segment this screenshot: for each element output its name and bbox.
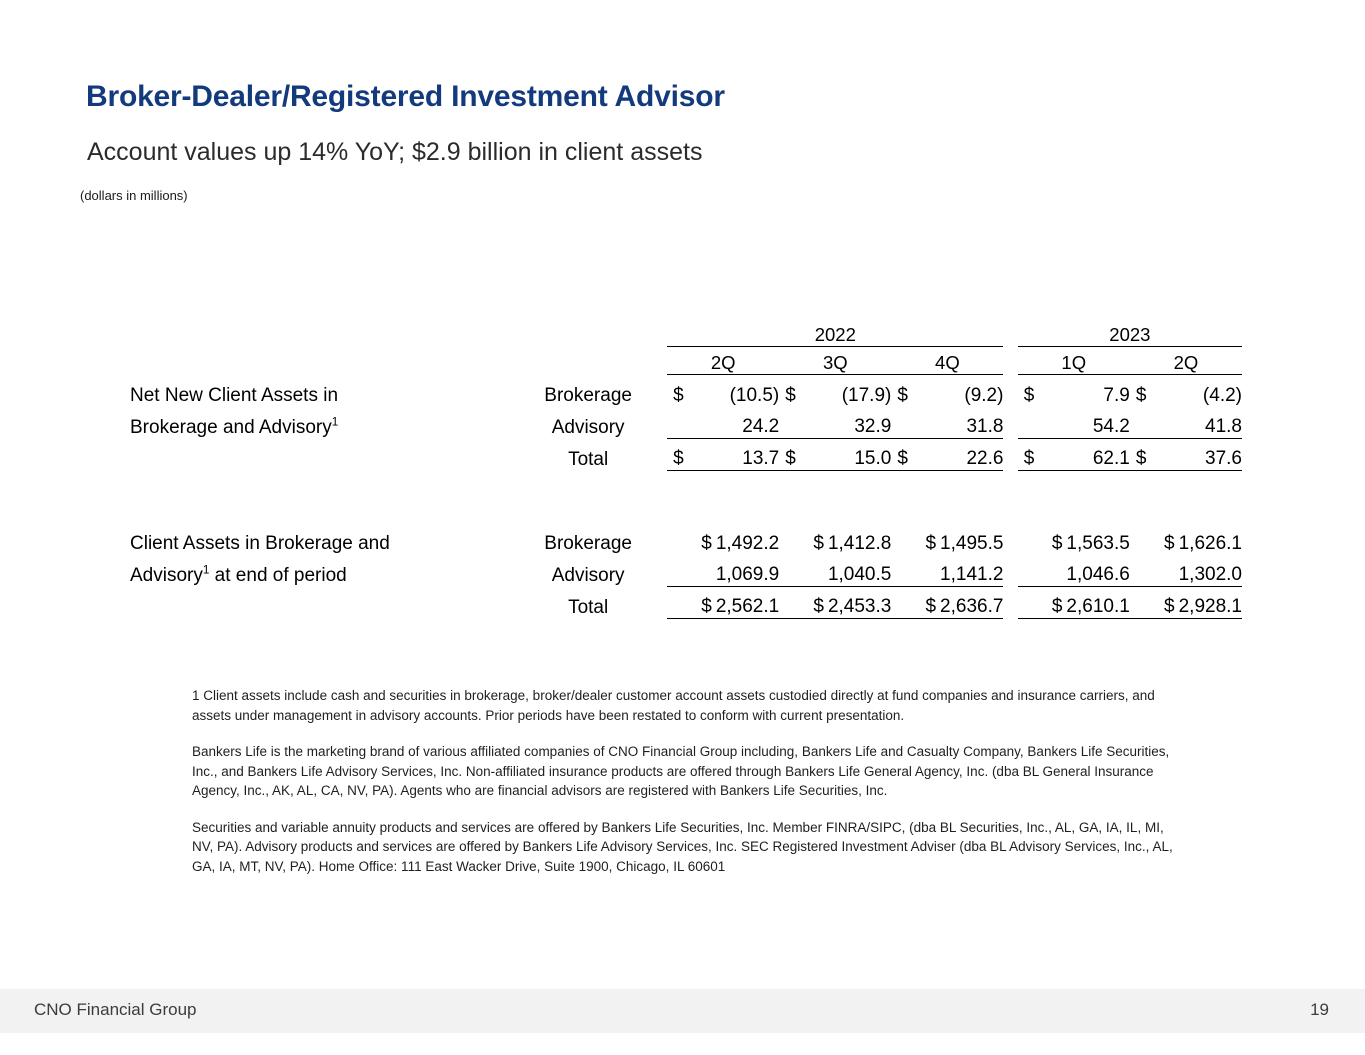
dollar-sign: $ — [1164, 533, 1175, 554]
cell-s0-r0-c2: $(9.2) — [891, 375, 1003, 407]
section2-title-line1-text: Client Assets in Brokerage and — [130, 533, 390, 554]
table-row: Client Assets in Brokerage and Brokerage… — [130, 523, 1242, 555]
year-group-2023: 2023 — [1018, 320, 1242, 346]
dollar-sign: $ — [785, 448, 796, 470]
cell-value: 31.8 — [966, 416, 1003, 437]
dollar-sign: $ — [1136, 448, 1147, 470]
footnote-3: Securities and variable annuity products… — [192, 818, 1182, 877]
cell-s0-r2-c1: $15.0 — [779, 439, 891, 471]
total-label-spacer2 — [130, 587, 509, 619]
cell-value: 1,495.5 — [940, 533, 1003, 554]
cell-s0-r1-c1: 32.9 — [779, 407, 891, 439]
dollar-sign: $ — [1052, 533, 1063, 554]
sub-label: Brokerage — [509, 375, 667, 407]
dollar-sign: $ — [925, 596, 936, 617]
cell-value: (10.5) — [730, 385, 780, 406]
footnote-marker: 1 — [332, 415, 339, 428]
dollar-sign: $ — [701, 533, 712, 554]
cell-value: 2,636.7 — [940, 596, 1003, 617]
footnote-2: Bankers Life is the marketing brand of v… — [192, 742, 1182, 801]
sub-label-total: Total — [509, 587, 667, 619]
cell-s1-r0-c4: $1,626.1 — [1130, 523, 1242, 555]
sub-label: Advisory — [509, 555, 667, 587]
page-title: Broker-Dealer/Registered Investment Advi… — [86, 80, 725, 114]
cell-s0-r0-c4: $(4.2) — [1130, 375, 1242, 407]
year-header-row: 2022 2023 — [130, 320, 1242, 346]
footer-company-name: CNO Financial Group — [34, 1000, 197, 1020]
section2-title-line2: Advisory1 at end of period — [130, 555, 509, 587]
page-subtitle: Account values up 14% YoY; $2.9 billion … — [87, 138, 702, 167]
cell-value: 1,492.2 — [716, 533, 779, 554]
section2-title-line2-tail: at end of period — [209, 565, 346, 586]
section2-title-line2-text: Advisory — [130, 565, 203, 586]
sub-label-total: Total — [509, 439, 667, 471]
section-title-line1: Net New Client Assets in — [130, 375, 509, 407]
table-row-total: Total $2,562.1 $2,453.3 $2,636.7 $2,610.… — [130, 587, 1242, 619]
table-row: Advisory1 at end of period Advisory 1,06… — [130, 555, 1242, 587]
cell-s0-r0-c1: $(17.9) — [779, 375, 891, 407]
col-gap — [1003, 407, 1017, 439]
cell-value: 37.6 — [1205, 448, 1242, 469]
cell-s0-r1-c4: 41.8 — [1130, 407, 1242, 439]
dollar-sign: $ — [1052, 596, 1063, 617]
cell-s0-r2-c3: $62.1 — [1018, 439, 1130, 471]
cell-s1-r1-c0: 1,069.9 — [667, 555, 779, 587]
cell-value: 2,610.1 — [1066, 596, 1129, 617]
section-title-line2: Brokerage and Advisory1 — [130, 407, 509, 439]
cell-value: 1,141.2 — [940, 564, 1003, 585]
cell-value: 32.9 — [854, 416, 891, 437]
cell-s1-r2-c2: $2,636.7 — [891, 587, 1003, 619]
dollar-sign: $ — [1164, 596, 1175, 617]
footer-bar: CNO Financial Group 19 — [0, 989, 1365, 1033]
cell-value: 62.1 — [1093, 448, 1130, 469]
cell-value: (9.2) — [964, 385, 1003, 406]
cell-s1-r1-c1: 1,040.5 — [779, 555, 891, 587]
cell-s1-r1-c2: 1,141.2 — [891, 555, 1003, 587]
cell-value: 1,302.0 — [1179, 564, 1242, 585]
cell-value: 1,069.9 — [716, 564, 779, 585]
cell-value: (4.2) — [1203, 385, 1242, 406]
section-spacer — [130, 471, 1242, 523]
cell-s1-r2-c4: $2,928.1 — [1130, 587, 1242, 619]
cell-s1-r0-c1: $1,412.8 — [779, 523, 891, 555]
quarter-header-2022-4q: 4Q — [891, 347, 1003, 375]
cell-s0-r1-c3: 54.2 — [1018, 407, 1130, 439]
footnotes-block: 1 Client assets include cash and securit… — [192, 686, 1182, 876]
year-group-2022: 2022 — [667, 320, 1003, 346]
year-header-spacer2 — [509, 320, 667, 346]
cell-value: 41.8 — [1205, 416, 1242, 437]
cell-s1-r0-c3: $1,563.5 — [1018, 523, 1130, 555]
cell-s1-r2-c1: $2,453.3 — [779, 587, 891, 619]
section-title-line1-text: Net New Client Assets in — [130, 385, 338, 406]
dollar-sign: $ — [897, 448, 908, 470]
quarter-header-2023-2q: 2Q — [1130, 347, 1242, 375]
cell-value: 15.0 — [854, 448, 891, 469]
cell-value: 22.6 — [966, 448, 1003, 469]
quarter-header-row: 2Q 3Q 4Q 1Q 2Q — [130, 347, 1242, 375]
quarter-header-spacer2 — [509, 347, 667, 375]
col-gap — [1003, 523, 1017, 555]
cell-s0-r0-c3: $7.9 — [1018, 375, 1130, 407]
dollar-sign: $ — [813, 596, 824, 617]
quarter-header-gap — [1003, 347, 1017, 375]
dollar-sign: $ — [813, 533, 824, 554]
cell-s1-r1-c3: 1,046.6 — [1018, 555, 1130, 587]
section-title-line2-text: Brokerage and Advisory — [130, 417, 332, 438]
sub-label: Advisory — [509, 407, 667, 439]
cell-value: (17.9) — [842, 385, 892, 406]
cell-s1-r2-c0: $2,562.1 — [667, 587, 779, 619]
footer-page-number: 19 — [1310, 1000, 1329, 1020]
financial-table: 2022 2023 2Q 3Q 4Q 1Q 2Q Net New Client … — [130, 320, 1242, 619]
dollar-sign: $ — [925, 533, 936, 554]
dollar-sign: $ — [785, 385, 796, 407]
quarter-header-2023-1q: 1Q — [1018, 347, 1130, 375]
dollar-sign: $ — [673, 385, 684, 407]
table-row-total: Total $13.7 $15.0 $22.6 $62.1 $37.6 — [130, 439, 1242, 471]
dollar-sign: $ — [1024, 385, 1035, 407]
col-gap — [1003, 555, 1017, 587]
units-note: (dollars in millions) — [80, 188, 188, 203]
cell-value: 1,626.1 — [1179, 533, 1242, 554]
col-gap — [1003, 439, 1017, 471]
cell-value: 2,562.1 — [716, 596, 779, 617]
cell-value: 1,412.8 — [828, 533, 891, 554]
table-row: Brokerage and Advisory1 Advisory 24.2 32… — [130, 407, 1242, 439]
quarter-header-spacer — [130, 347, 509, 375]
cell-s0-r1-c2: 31.8 — [891, 407, 1003, 439]
cell-value: 1,046.6 — [1066, 564, 1129, 585]
section2-title-line1: Client Assets in Brokerage and — [130, 523, 509, 555]
dollar-sign: $ — [701, 596, 712, 617]
cell-value: 2,453.3 — [828, 596, 891, 617]
dollar-sign: $ — [1136, 385, 1147, 407]
col-gap — [1003, 587, 1017, 619]
cell-value: 24.2 — [742, 416, 779, 437]
sub-label: Brokerage — [509, 523, 667, 555]
cell-value: 1,563.5 — [1066, 533, 1129, 554]
dollar-sign: $ — [1024, 448, 1035, 470]
quarter-header-2022-3q: 3Q — [779, 347, 891, 375]
year-header-spacer — [130, 320, 509, 346]
cell-s1-r1-c4: 1,302.0 — [1130, 555, 1242, 587]
cell-s0-r1-c0: 24.2 — [667, 407, 779, 439]
table-row: Net New Client Assets in Brokerage $(10.… — [130, 375, 1242, 407]
cell-value: 13.7 — [742, 448, 779, 469]
col-gap — [1003, 375, 1017, 407]
cell-value: 2,928.1 — [1179, 596, 1242, 617]
cell-s0-r2-c4: $37.6 — [1130, 439, 1242, 471]
cell-value: 54.2 — [1093, 416, 1130, 437]
cell-s1-r0-c2: $1,495.5 — [891, 523, 1003, 555]
dollar-sign: $ — [673, 448, 684, 470]
cell-s1-r0-c0: $1,492.2 — [667, 523, 779, 555]
year-group-gap — [1003, 320, 1017, 346]
cell-s1-r2-c3: $2,610.1 — [1018, 587, 1130, 619]
cell-value: 1,040.5 — [828, 564, 891, 585]
cell-value: 7.9 — [1103, 385, 1129, 406]
cell-s0-r2-c2: $22.6 — [891, 439, 1003, 471]
dollar-sign: $ — [897, 385, 908, 407]
quarter-header-2022-2q: 2Q — [667, 347, 779, 375]
cell-s0-r2-c0: $13.7 — [667, 439, 779, 471]
cell-s0-r0-c0: $(10.5) — [667, 375, 779, 407]
total-label-spacer — [130, 439, 509, 471]
footnote-1: 1 Client assets include cash and securit… — [192, 686, 1182, 725]
